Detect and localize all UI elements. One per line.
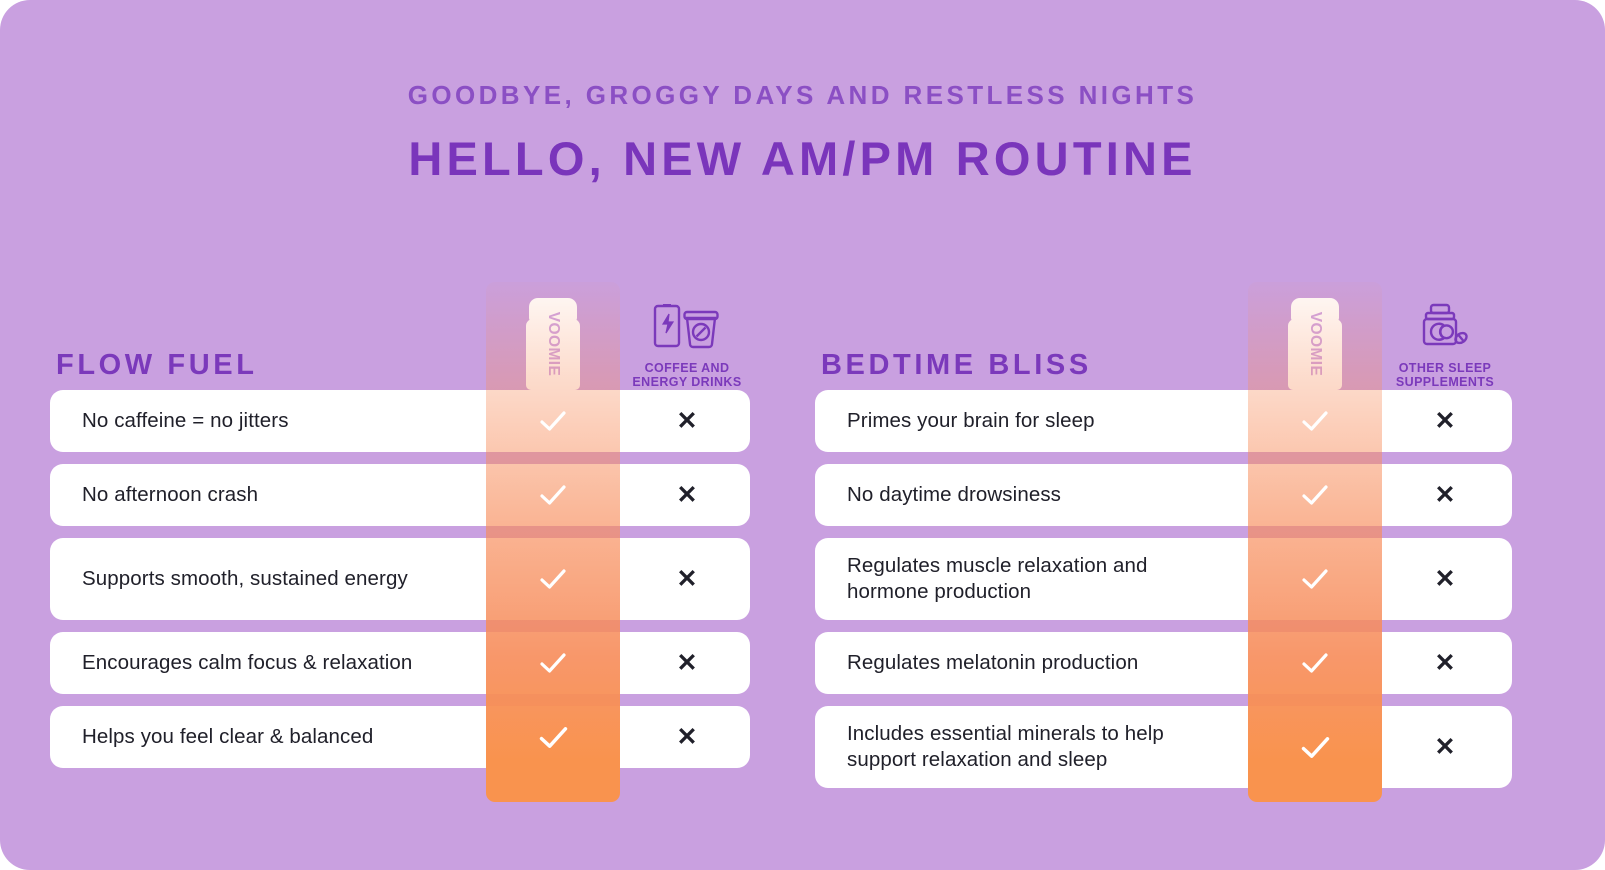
rival-column-header: Other Sleep Supplements [1378,290,1512,390]
section-title: Flow Fuel [56,349,258,382]
voomie-bottle-icon: VOOMIE [1288,298,1342,390]
table-row: No caffeine = no jitters ✕ [50,390,750,452]
page-title: Hello, new AM/PM Routine [0,131,1605,186]
table-row: Regulates melatonin production ✕ [815,632,1512,694]
section-title: Bedtime Bliss [821,349,1092,382]
header: Goodbye, groggy days and restless nights… [0,0,1605,186]
rival-cross-icon: ✕ [620,390,754,452]
section-bedtime-bliss: Bedtime Bliss VOOMIE [815,280,1512,800]
rival-cross-icon: ✕ [620,706,754,768]
table-row: Helps you feel clear & balanced ✕ [50,706,750,768]
feature-label: Helps you feel clear & balanced [50,724,389,750]
rival-column-label: Coffee and Energy Drinks [620,361,754,391]
feature-label: No caffeine = no jitters [50,408,305,434]
coffee-and-energy-drinks-icon [651,302,723,355]
section-header: Bedtime Bliss VOOMIE [815,280,1512,390]
brand-column-header: VOOMIE [486,286,620,390]
feature-rows: Primes your brain for sleep ✕ No daytime… [815,390,1512,788]
rival-cross-icon: ✕ [620,632,754,694]
table-row: No afternoon crash ✕ [50,464,750,526]
rival-cross-icon: ✕ [1378,632,1512,694]
feature-label: Encourages calm focus & relaxation [50,650,428,676]
rival-cross-icon: ✕ [620,538,754,620]
brand-column-header: VOOMIE [1248,286,1382,390]
table-row: Includes essential minerals to help supp… [815,706,1512,788]
table-row: Encourages calm focus & relaxation ✕ [50,632,750,694]
comparison-infographic: Goodbye, groggy days and restless nights… [0,0,1605,870]
rival-cross-icon: ✕ [1378,706,1512,788]
section-header: Flow Fuel VOOMIE [50,280,750,390]
table-row: No daytime drowsiness ✕ [815,464,1512,526]
rival-column-header: Coffee and Energy Drinks [620,290,754,390]
eyebrow-text: Goodbye, groggy days and restless nights [0,80,1605,111]
section-flow-fuel: Flow Fuel VOOMIE [50,280,750,780]
feature-label: Includes essential minerals to help supp… [815,721,1235,773]
rival-cross-icon: ✕ [620,464,754,526]
table-row: Supports smooth, sustained energy ✕ [50,538,750,620]
rival-cross-icon: ✕ [1378,464,1512,526]
table-row: Primes your brain for sleep ✕ [815,390,1512,452]
feature-label: No daytime drowsiness [815,482,1077,508]
feature-label: Regulates muscle relaxation and hormone … [815,553,1235,605]
bottle-label: VOOMIE [544,312,562,376]
table-row: Regulates muscle relaxation and hormone … [815,538,1512,620]
bottle-label: VOOMIE [1306,312,1324,376]
other-sleep-supplements-icon [1413,302,1477,355]
feature-label: Regulates melatonin production [815,650,1154,676]
feature-label: Primes your brain for sleep [815,408,1111,434]
rival-cross-icon: ✕ [1378,390,1512,452]
feature-label: No afternoon crash [50,482,274,508]
rival-column-label: Other Sleep Supplements [1378,361,1512,391]
feature-rows: No caffeine = no jitters ✕ No afternoon … [50,390,750,768]
feature-label: Supports smooth, sustained energy [50,566,424,592]
rival-cross-icon: ✕ [1378,538,1512,620]
voomie-bottle-icon: VOOMIE [526,298,580,390]
